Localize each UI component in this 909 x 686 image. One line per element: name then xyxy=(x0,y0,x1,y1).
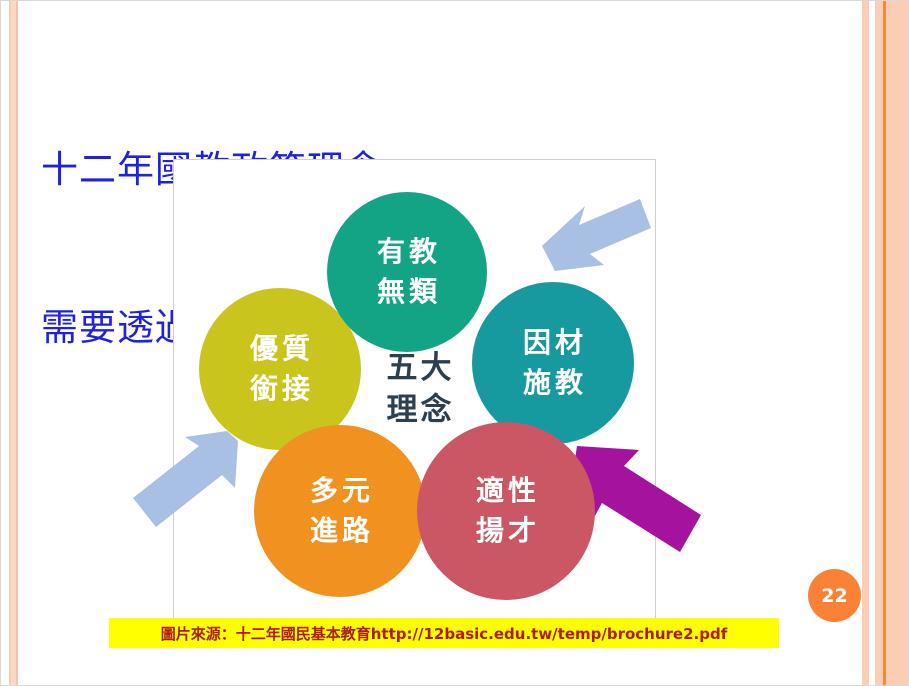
circle-duo-yuan-jin-lu: 多元 進路 xyxy=(254,425,426,597)
circle-label-line-1: 優質 xyxy=(246,329,314,369)
right-edge-decoration xyxy=(854,1,908,685)
circle-you-jiao-wu-lei: 有教 無類 xyxy=(327,192,487,352)
image-source-citation: 圖片來源：十二年國民基本教育http://12basic.edu.tw/temp… xyxy=(109,618,779,648)
circle-label-line-2: 銜接 xyxy=(246,369,314,409)
page-number-badge: 22 xyxy=(808,569,861,622)
circle-label-line-2: 揚才 xyxy=(472,511,540,551)
presentation-slide: 十二年國教政策理念 需要透過課綱研修加以落實 有教 無類 因材 施教 優質 銜接… xyxy=(0,0,909,686)
center-label-line-2: 理念 xyxy=(365,390,473,432)
left-edge-decoration xyxy=(1,1,23,685)
circle-label-line-1: 適性 xyxy=(472,471,540,511)
circle-label-line-2: 施教 xyxy=(519,363,587,403)
figure-image-frame: 有教 無類 因材 施教 優質 銜接 多元 進路 適性 揚才 五大 理念 xyxy=(173,159,656,626)
circle-label-line-1: 多元 xyxy=(306,471,374,511)
circle-label-line-1: 因材 xyxy=(519,323,587,363)
circle-shi-xing-yang-cai: 適性 揚才 xyxy=(417,422,595,600)
circle-label-line-2: 進路 xyxy=(306,511,374,551)
circle-label-line-2: 無類 xyxy=(373,272,441,312)
circle-yin-cai-shi-jiao: 因材 施教 xyxy=(472,282,634,444)
center-label-line-1: 五大 xyxy=(365,348,473,390)
circle-label-line-1: 有教 xyxy=(373,232,441,272)
figure-center-label: 五大 理念 xyxy=(365,348,473,432)
